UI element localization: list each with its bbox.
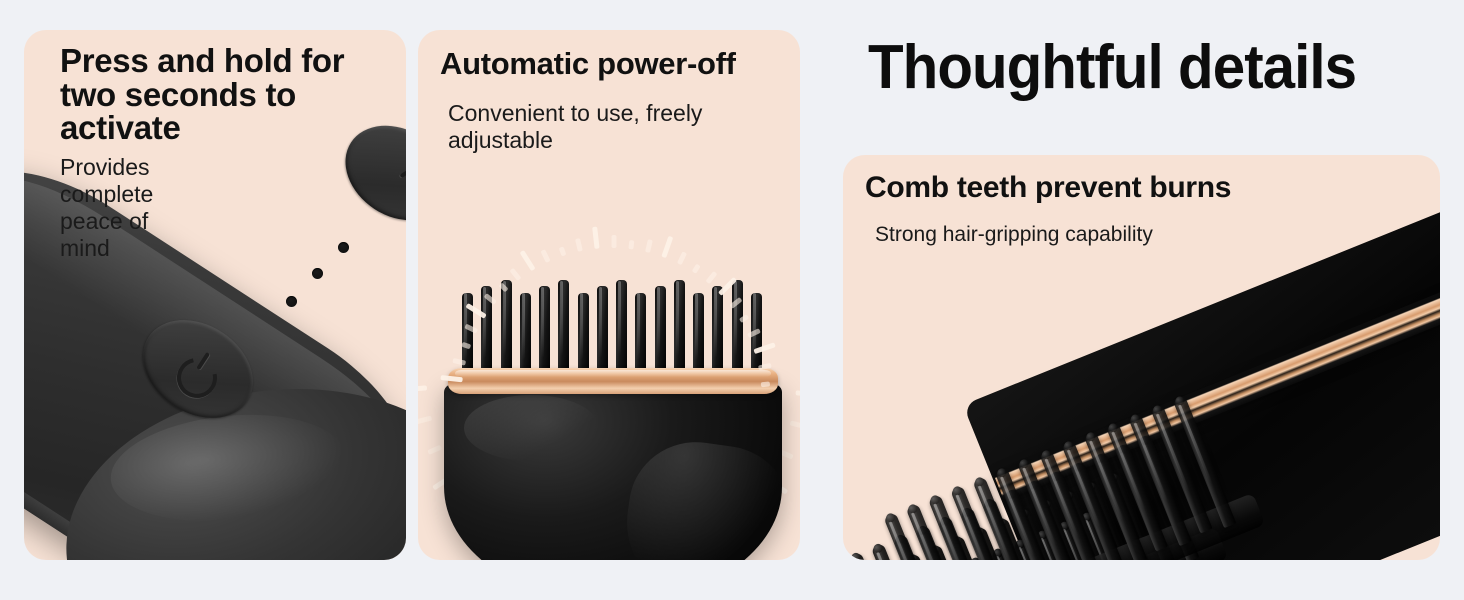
bowl-dial-tick: [692, 264, 701, 274]
bowl-dial-tick: [559, 246, 567, 256]
bowl-dial-tick: [592, 227, 599, 249]
infographic-stage: Press and hold for two seconds to activa…: [0, 0, 1464, 600]
bowl-dial-tick: [761, 381, 770, 387]
bowl-dial-tick: [520, 250, 536, 271]
panel-press-and-hold: Press and hold for two seconds to activa…: [24, 30, 406, 560]
panel-3-subtitle: Strong hair-gripping capability: [875, 223, 1345, 248]
power-icon: [170, 341, 225, 396]
dial-tick: [795, 390, 800, 397]
indicator-led-1: [286, 296, 297, 307]
indicator-led-3: [338, 242, 349, 253]
indicator-led-2: [312, 268, 323, 279]
bowl-dial-tick: [628, 240, 634, 250]
bowl-dial-tick: [440, 375, 462, 382]
panel-3-title: Comb teeth prevent burns: [865, 173, 1385, 204]
dial-tick: [427, 445, 442, 455]
panel-2-subtitle: Convenient to use, freely adjustable: [448, 100, 758, 154]
panel-automatic-power-off: Automatic power-off Convenient to use, f…: [418, 30, 800, 560]
panel-2-title: Automatic power-off: [440, 48, 790, 80]
panel-comb-teeth: Comb teeth prevent burns Strong hair-gri…: [843, 155, 1440, 560]
dial-tick: [418, 385, 427, 392]
bowl-dial-tick: [612, 235, 617, 248]
main-headline: Thoughtful details: [868, 32, 1356, 103]
panel-1-subtitle: Provides complete peace of mind: [60, 154, 190, 263]
rose-gold-band: [448, 368, 778, 394]
bowl-dial-tick: [540, 249, 550, 263]
dial-tick: [790, 420, 800, 429]
bowl-dial-tick: [677, 251, 687, 265]
bowl-dial-tick: [661, 236, 673, 258]
dial-tick: [418, 416, 432, 425]
mode-button-marker: [399, 156, 406, 178]
brush-body-image: [444, 382, 782, 560]
bowl-dial-tick: [645, 239, 653, 253]
panel-1-title: Press and hold for two seconds to activa…: [60, 44, 390, 145]
comb-teeth-image: [843, 155, 1440, 560]
bowl-dial-tick: [575, 238, 583, 252]
